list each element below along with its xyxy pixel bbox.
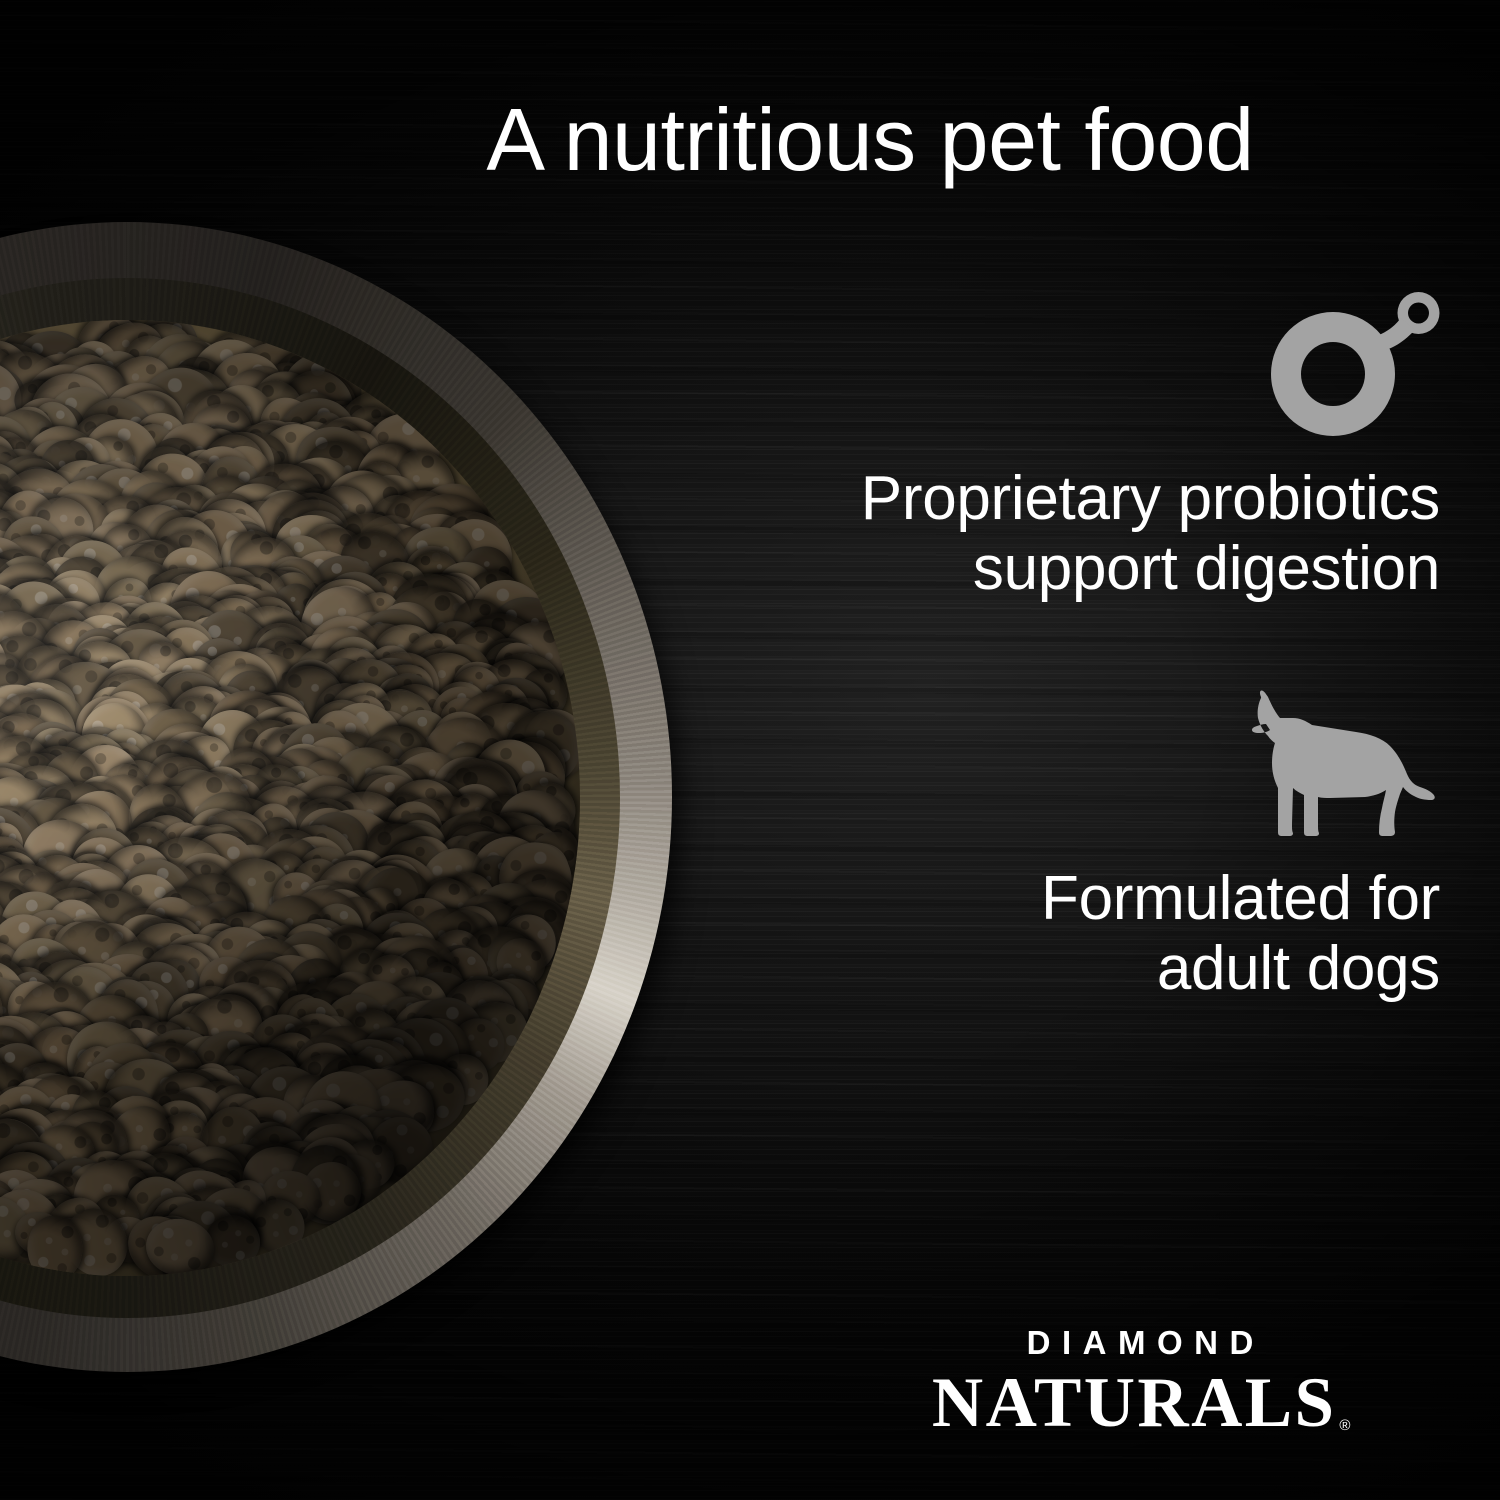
kibble-piece xyxy=(0,1006,77,1094)
kibble-piece xyxy=(232,694,318,779)
feature-probiotics-text: Proprietary probiotics support digestion xyxy=(620,464,1440,604)
kibble-piece xyxy=(94,570,160,640)
kibble-piece xyxy=(460,869,553,961)
kibble-piece xyxy=(443,589,519,668)
kibble-piece xyxy=(0,491,1,562)
kibble-piece xyxy=(127,631,202,708)
kibble-piece xyxy=(155,600,216,663)
kibble-piece xyxy=(256,832,318,893)
kibble-piece xyxy=(360,566,419,623)
kibble-piece xyxy=(298,408,351,469)
kibble-piece xyxy=(197,584,279,666)
kibble-piece xyxy=(77,510,156,589)
kibble-piece xyxy=(240,361,325,443)
kibble-piece xyxy=(374,629,425,683)
kibble-piece xyxy=(105,725,168,788)
kibble-piece xyxy=(291,422,377,499)
kibble-piece xyxy=(162,347,235,422)
kibble-piece xyxy=(169,898,231,963)
kibble-piece xyxy=(30,1144,125,1239)
kibble-piece xyxy=(165,725,241,799)
kibble-piece xyxy=(366,1062,422,1120)
kibble-piece xyxy=(300,567,396,660)
kibble-piece xyxy=(117,1203,208,1276)
kibble-piece xyxy=(220,958,298,1027)
kibble-piece xyxy=(266,811,370,915)
kibble-piece xyxy=(283,1109,344,1171)
kibble-piece xyxy=(440,1008,514,1083)
kibble-piece xyxy=(350,1038,416,1093)
kibble-piece xyxy=(124,473,227,574)
kibble-piece xyxy=(127,406,194,473)
kibble-piece xyxy=(0,1106,60,1184)
kibble-piece xyxy=(247,886,338,981)
kibble-piece xyxy=(185,399,257,470)
kibble-piece xyxy=(0,710,19,766)
kibble-piece xyxy=(389,896,456,964)
kibble-piece xyxy=(422,919,492,989)
kibble-piece xyxy=(487,803,560,876)
kibble-piece xyxy=(0,855,37,924)
kibble-piece xyxy=(302,1008,365,1071)
kibble-piece xyxy=(486,669,562,745)
kibble-piece xyxy=(469,834,549,912)
kibble-piece xyxy=(372,987,442,1056)
kibble-piece xyxy=(266,337,377,449)
kibble-piece xyxy=(0,1166,11,1235)
kibble-piece xyxy=(373,666,443,737)
kibble-piece xyxy=(402,564,494,656)
kibble-piece xyxy=(125,320,236,430)
kibble-piece xyxy=(177,436,263,524)
kibble-piece xyxy=(113,724,222,834)
kibble-piece xyxy=(482,691,545,755)
kibble-piece xyxy=(346,978,415,1047)
kibble-piece xyxy=(276,919,345,994)
kibble-piece xyxy=(351,458,408,517)
kibble-piece xyxy=(271,979,336,1043)
kibble-piece xyxy=(185,579,268,663)
kibble-piece xyxy=(107,753,172,817)
kibble-piece xyxy=(310,420,391,498)
kibble-piece xyxy=(232,686,321,773)
kibble-piece xyxy=(188,584,280,675)
kibble-piece xyxy=(0,1192,36,1253)
kibble-piece xyxy=(0,1005,53,1104)
kibble-piece xyxy=(87,685,139,743)
kibble-piece xyxy=(96,759,153,818)
kibble-piece xyxy=(37,889,117,973)
kibble-piece xyxy=(248,414,323,488)
kibble-piece xyxy=(481,685,574,778)
kibble-piece xyxy=(73,362,125,415)
kibble-piece xyxy=(223,927,297,1001)
kibble-piece xyxy=(398,483,462,553)
kibble-piece xyxy=(244,480,325,562)
kibble-piece xyxy=(50,555,112,618)
kibble-piece xyxy=(138,713,232,808)
kibble-piece xyxy=(0,670,5,764)
kibble-piece xyxy=(257,419,324,481)
kibble-piece xyxy=(216,743,279,807)
kibble-piece xyxy=(160,994,225,1059)
kibble-piece xyxy=(16,711,95,788)
kibble-piece xyxy=(0,755,48,849)
kibble-piece xyxy=(0,1170,3,1243)
kibble-piece xyxy=(168,508,253,588)
kibble-piece xyxy=(0,943,43,1046)
kibble-piece xyxy=(0,685,90,788)
kibble-piece xyxy=(328,938,407,1016)
kibble-piece xyxy=(471,708,529,769)
kibble-piece xyxy=(292,1061,393,1165)
kibble-piece xyxy=(0,645,10,723)
kibble-piece xyxy=(357,607,431,675)
kibble-piece xyxy=(267,1012,360,1101)
kibble-piece xyxy=(11,484,81,554)
kibble-piece xyxy=(183,1163,249,1229)
kibble-piece xyxy=(0,841,44,913)
kibble-piece xyxy=(230,1129,322,1220)
kibble-piece xyxy=(445,828,524,906)
kibble-piece xyxy=(136,1143,219,1228)
kibble-piece xyxy=(405,895,470,960)
kibble-piece xyxy=(134,1181,216,1262)
kibble-piece xyxy=(25,950,111,1032)
kibble-piece xyxy=(262,567,316,628)
kibble-piece xyxy=(221,422,299,500)
kibble-piece xyxy=(385,737,455,807)
kibble-piece xyxy=(374,756,438,820)
kibble-piece xyxy=(242,718,310,785)
kibble-piece xyxy=(469,849,524,908)
kibble-piece xyxy=(312,577,389,659)
kibble-piece xyxy=(358,512,445,593)
kibble-piece xyxy=(152,474,232,555)
kibble-piece xyxy=(86,459,149,513)
kibble-piece xyxy=(0,420,29,512)
kibble-piece xyxy=(0,1078,48,1149)
kibble-piece xyxy=(266,986,333,1056)
kibble-piece xyxy=(57,456,147,548)
kibble-piece xyxy=(153,1004,218,1069)
kibble-piece xyxy=(0,1035,57,1115)
kibble-piece xyxy=(133,500,220,591)
kibble-piece xyxy=(332,687,395,751)
kibble-piece xyxy=(112,845,207,942)
kibble-piece xyxy=(30,549,93,612)
kibble-piece xyxy=(397,831,466,900)
kibble-piece xyxy=(421,791,479,841)
kibble-piece xyxy=(0,973,5,1047)
kibble-piece xyxy=(197,452,267,534)
kibble-piece xyxy=(461,1003,514,1055)
kibble-piece xyxy=(323,889,394,960)
kibble-piece xyxy=(280,485,349,554)
kibble-piece xyxy=(0,1066,83,1148)
kibble-piece xyxy=(457,837,521,897)
kibble-piece xyxy=(298,520,376,597)
kibble-piece xyxy=(141,1028,219,1104)
kibble-piece xyxy=(0,521,48,632)
kibble-piece xyxy=(0,1001,38,1095)
kibble-piece xyxy=(287,794,364,876)
kibble-piece xyxy=(66,688,144,769)
kibble-piece xyxy=(435,798,529,894)
kibble-piece xyxy=(118,1168,185,1228)
kibble-piece xyxy=(217,577,306,666)
kibble-piece xyxy=(63,1083,134,1162)
kibble-piece xyxy=(490,931,553,993)
kibble-piece xyxy=(388,1055,460,1124)
kibble-piece xyxy=(35,949,114,1029)
kibble-piece xyxy=(351,399,454,501)
kibble-piece xyxy=(150,646,231,727)
kibble-piece xyxy=(432,944,485,990)
kibble-piece xyxy=(350,645,443,734)
kibble-piece xyxy=(0,1050,2,1138)
kibble-piece xyxy=(117,824,173,873)
kibble-piece xyxy=(270,874,378,981)
kibble-piece xyxy=(16,1058,82,1135)
kibble-piece xyxy=(215,759,267,816)
kibble-piece xyxy=(0,442,24,503)
kibble-piece xyxy=(13,1013,108,1107)
kibble-piece xyxy=(37,530,115,612)
kibble-piece xyxy=(317,630,393,711)
kibble-piece xyxy=(73,912,153,994)
kibble-piece xyxy=(437,978,519,1057)
kibble-piece xyxy=(179,554,278,651)
kibble-piece xyxy=(95,352,165,420)
kibble-piece xyxy=(274,1101,359,1186)
kibble-piece xyxy=(0,636,10,696)
kibble-piece xyxy=(157,529,222,594)
kibble-piece xyxy=(312,982,400,1069)
kibble-piece xyxy=(346,765,415,835)
kibble-piece xyxy=(280,658,339,722)
kibble-piece xyxy=(447,887,521,965)
kibble-piece xyxy=(385,771,473,854)
kibble-piece xyxy=(234,1118,317,1206)
kibble-piece xyxy=(113,381,191,461)
kibble-piece xyxy=(140,517,235,611)
kibble-piece xyxy=(488,892,577,973)
kibble-piece xyxy=(273,658,351,735)
kibble-piece xyxy=(149,617,218,684)
kibble-piece xyxy=(96,666,163,737)
kibble-piece xyxy=(323,647,417,741)
kibble-piece xyxy=(304,811,370,876)
kibble-piece xyxy=(65,620,135,691)
kibble-piece xyxy=(215,411,308,506)
kibble-piece xyxy=(192,639,290,734)
kibble-piece xyxy=(66,640,135,700)
kibble-piece xyxy=(102,597,160,655)
kibble-piece xyxy=(368,690,434,748)
kibble-piece xyxy=(64,853,137,922)
kibble-piece xyxy=(0,700,10,789)
kibble-piece xyxy=(65,875,167,976)
kibble-piece xyxy=(242,1189,315,1263)
kibble-piece xyxy=(0,803,9,889)
kibble-piece xyxy=(128,930,231,1034)
kibble-piece xyxy=(152,360,241,446)
kibble-piece xyxy=(14,370,77,434)
kibble-piece xyxy=(0,422,37,488)
kibble-piece xyxy=(289,427,384,522)
kibble-piece xyxy=(294,519,361,595)
kibble-piece xyxy=(190,802,276,882)
kibble-piece xyxy=(0,763,68,863)
kibble-piece xyxy=(92,343,184,433)
kibble-piece xyxy=(186,682,249,746)
kibble-piece xyxy=(297,1092,369,1164)
kibble-piece xyxy=(316,976,372,1032)
kibble-piece xyxy=(0,567,87,671)
kibble-piece xyxy=(449,890,535,975)
kibble-piece xyxy=(352,549,440,636)
kibble-piece xyxy=(0,676,45,743)
kibble-piece xyxy=(301,991,348,1043)
kibble-piece xyxy=(119,320,203,393)
kibble-piece xyxy=(152,814,214,877)
kibble-piece xyxy=(0,886,15,952)
kibble-piece xyxy=(112,470,172,521)
kibble-piece xyxy=(282,540,373,625)
kibble-piece xyxy=(395,622,472,700)
kibble-piece xyxy=(0,449,31,546)
kibble-piece xyxy=(66,492,127,559)
kibble-piece xyxy=(130,806,202,878)
kibble-piece xyxy=(91,773,154,837)
kibble-piece xyxy=(94,623,187,715)
kibble-piece xyxy=(196,340,266,410)
kibble-piece xyxy=(442,657,509,725)
kibble-piece xyxy=(211,1039,275,1099)
kibble-piece xyxy=(53,922,105,983)
kibble-piece xyxy=(343,1040,406,1105)
kibble-piece xyxy=(186,1157,253,1234)
kibble-piece xyxy=(268,867,326,929)
kibble-piece xyxy=(312,1134,374,1193)
kibble-piece xyxy=(295,580,358,646)
kibble-piece xyxy=(0,705,48,772)
kibble-piece xyxy=(292,977,374,1053)
kibble-piece xyxy=(146,755,248,858)
kibble-piece xyxy=(355,847,438,932)
kibble-piece xyxy=(20,643,107,731)
kibble-piece xyxy=(336,1063,416,1134)
kibble-piece xyxy=(115,1028,219,1132)
kibble-piece xyxy=(80,320,176,401)
kibble-piece xyxy=(22,996,100,1075)
kibble-piece xyxy=(43,1105,108,1168)
kibble-piece xyxy=(0,905,24,975)
kibble-piece xyxy=(96,533,179,613)
kibble-piece xyxy=(118,1042,191,1117)
kibble-piece xyxy=(99,1144,165,1210)
kibble-piece xyxy=(0,537,42,603)
kibble-piece xyxy=(146,412,242,509)
kibble-piece xyxy=(115,1165,181,1226)
kibble-piece xyxy=(124,780,193,861)
kibble-piece xyxy=(260,524,343,606)
kibble-piece xyxy=(379,1014,464,1099)
kibble-piece xyxy=(11,743,78,810)
kibble-piece xyxy=(0,900,6,978)
kibble-piece xyxy=(0,543,69,634)
kibble-piece xyxy=(425,671,499,745)
kibble-piece xyxy=(256,712,346,799)
kibble-piece xyxy=(69,460,134,527)
kibble-piece xyxy=(143,506,229,594)
kibble-piece xyxy=(54,1199,138,1276)
kibble-piece xyxy=(66,1099,134,1168)
kibble-piece xyxy=(138,329,228,422)
kibble-piece xyxy=(163,822,252,912)
kibble-piece xyxy=(55,528,125,598)
kibble-piece xyxy=(127,849,216,937)
kibble-piece xyxy=(188,484,267,564)
kibble-piece xyxy=(174,1157,245,1228)
kibble-piece xyxy=(381,787,465,871)
kibble-piece xyxy=(80,1084,152,1155)
kibble-piece xyxy=(0,924,94,1020)
kibble-piece xyxy=(67,1154,160,1245)
kibble-piece xyxy=(67,404,172,509)
kibble-piece xyxy=(235,644,305,714)
brand-logo-naturals: NATURALS xyxy=(930,1368,1337,1439)
kibble-piece xyxy=(0,973,9,1033)
kibble-piece xyxy=(181,485,280,585)
kibble-piece xyxy=(203,378,282,458)
kibble-piece xyxy=(0,689,33,760)
kibble-piece xyxy=(26,919,82,978)
kibble-piece xyxy=(125,701,187,763)
kibble-piece xyxy=(91,498,161,568)
kibble-piece xyxy=(471,788,541,860)
kibble-piece xyxy=(185,631,253,701)
kibble-piece xyxy=(40,1033,95,1083)
kibble-piece xyxy=(17,874,70,940)
kibble-piece xyxy=(474,810,552,876)
kibble-piece xyxy=(174,796,258,880)
kibble-piece xyxy=(383,800,446,871)
kibble-piece xyxy=(191,698,273,779)
kibble-piece xyxy=(169,850,243,925)
kibble-piece xyxy=(0,756,86,842)
kibble-piece xyxy=(412,869,489,947)
kibble-piece xyxy=(50,892,120,957)
kibble-piece xyxy=(233,1113,304,1183)
kibble-piece xyxy=(91,664,190,763)
kibble-piece xyxy=(279,1071,346,1145)
kibble-piece xyxy=(0,960,17,1029)
kibble-piece xyxy=(238,1044,316,1122)
kibble-piece xyxy=(495,910,560,978)
kibble-piece xyxy=(25,767,89,830)
kibble-piece xyxy=(270,479,363,571)
kibble-piece xyxy=(0,330,38,440)
kibble-piece xyxy=(396,637,476,716)
kibble-piece xyxy=(306,895,372,963)
kibble-piece xyxy=(348,430,434,516)
kibble-piece xyxy=(102,1005,180,1084)
kibble-piece xyxy=(0,767,81,854)
kibble-piece xyxy=(63,592,144,671)
kibble-piece xyxy=(118,953,197,1035)
